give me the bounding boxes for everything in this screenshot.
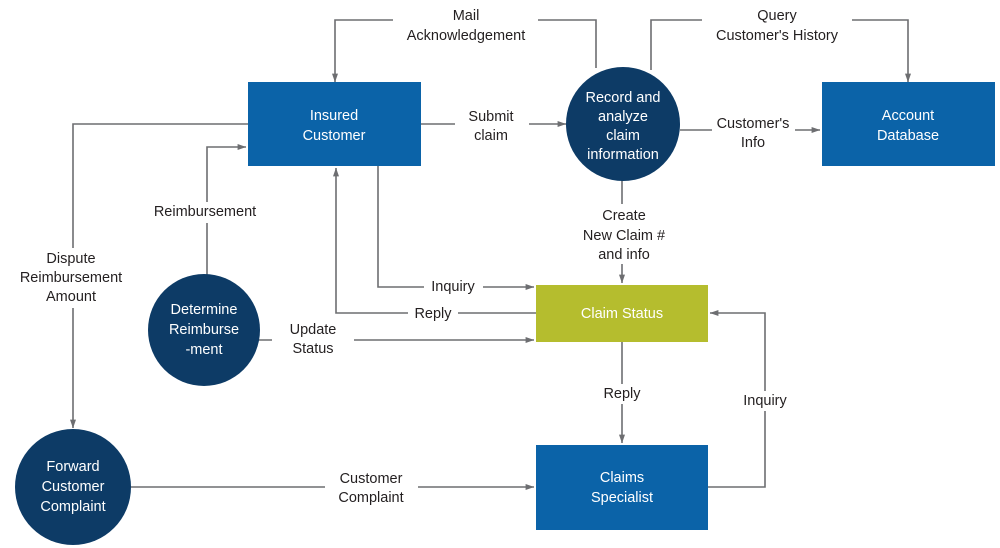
flow-label-query-customers-history: Query Customer's History <box>702 7 852 47</box>
flow-label-reply-status-to-specialist-line-1: Reply <box>603 386 641 402</box>
node-label-determine-reimbursement-line-3: -ment <box>185 342 222 358</box>
node-label-claim-status: Claim Status <box>581 306 663 322</box>
flow-label-customers-info-line-1: Customer's <box>717 116 790 132</box>
node-claims-specialist[interactable]: Claims Specialist <box>536 445 708 530</box>
node-determine-reimbursement[interactable]: Determine Reimburse -ment <box>148 274 260 386</box>
flow-label-submit-claim-line-2: claim <box>474 128 508 144</box>
flow-label-query-customers-history-line-2: Customer's History <box>716 28 839 44</box>
flow-label-inquiry-customer-to-status-line-1: Inquiry <box>431 279 475 295</box>
node-label-account-database-line-2: Database <box>877 128 939 144</box>
flow-label-update-status-line-1: Update <box>290 322 337 338</box>
node-label-record-analyze-line-2: analyze <box>598 109 648 125</box>
flow-label-dispute-reimbursement-amount-line-3: Amount <box>46 289 96 305</box>
flow-label-query-customers-history-line-1: Query <box>757 8 797 24</box>
flow-label-submit-claim: Submit claim <box>455 106 529 146</box>
node-record-analyze[interactable]: Record and analyze claim information <box>566 67 680 181</box>
flow-label-customers-info: Customer's Info <box>712 113 795 153</box>
flow-label-customers-info-line-2: Info <box>741 135 765 151</box>
node-label-insured-customer-line-2: Customer <box>303 128 366 144</box>
flow-label-mail-acknowledgement-line-2: Acknowledgement <box>407 28 526 44</box>
node-label-determine-reimbursement-line-1: Determine <box>171 302 238 318</box>
flow-label-dispute-reimbursement-amount-line-2: Reimbursement <box>20 270 122 286</box>
flow-label-inquiry-customer-to-status: Inquiry <box>424 277 483 297</box>
flow-label-inquiry-specialist-to-status: Inquiry <box>736 391 795 411</box>
flow-label-dispute-reimbursement-amount-line-1: Dispute <box>46 251 95 267</box>
flow-label-reply-status-to-customer-line-1: Reply <box>414 306 452 322</box>
node-label-insured-customer-line-1: Insured <box>310 108 358 124</box>
node-insured-customer[interactable]: Insured Customer <box>248 82 421 166</box>
flow-label-create-new-claim-line-3: and info <box>598 247 650 263</box>
node-label-forward-customer-complaint-line-3: Complaint <box>40 499 105 515</box>
flow-label-create-new-claim: Create New Claim # and info <box>578 204 670 264</box>
flow-label-mail-acknowledgement-line-1: Mail <box>453 8 480 24</box>
node-forward-customer-complaint[interactable]: Forward Customer Complaint <box>15 429 131 545</box>
flow-label-mail-acknowledgement: Mail Acknowledgement <box>393 7 538 47</box>
flow-label-customer-complaint: Customer Complaint <box>325 467 418 507</box>
flow-line-inquiry-customer-to-status <box>378 166 534 287</box>
node-label-forward-customer-complaint-line-1: Forward <box>46 459 99 475</box>
dataflow-diagram: Insured Customer Record and analyze clai… <box>0 0 1000 548</box>
flow-label-reimbursement: Reimbursement <box>140 202 270 223</box>
flow-label-update-status: Update Status <box>272 318 354 358</box>
flow-label-create-new-claim-line-1: Create <box>602 208 646 224</box>
flow-label-reply-status-to-specialist: Reply <box>597 384 647 404</box>
flow-label-reply-status-to-customer: Reply <box>408 304 458 324</box>
node-label-determine-reimbursement-line-2: Reimburse <box>169 322 239 338</box>
flow-label-customer-complaint-line-1: Customer <box>340 471 403 487</box>
flow-label-submit-claim-line-1: Submit <box>468 109 513 125</box>
flow-label-reimbursement-line-1: Reimbursement <box>154 204 256 220</box>
node-label-record-analyze-line-1: Record and <box>586 90 661 106</box>
node-claim-status[interactable]: Claim Status <box>536 285 708 342</box>
node-label-claims-specialist-line-2: Specialist <box>591 490 653 506</box>
diagram-canvas: Insured Customer Record and analyze clai… <box>0 0 1000 548</box>
node-label-record-analyze-line-4: information <box>587 147 659 163</box>
flow-label-create-new-claim-line-2: New Claim # <box>583 228 665 244</box>
node-account-database[interactable]: Account Database <box>822 82 995 166</box>
flow-label-customer-complaint-line-2: Complaint <box>338 490 403 506</box>
flow-label-update-status-line-2: Status <box>292 341 333 357</box>
flow-label-dispute-reimbursement-amount: Dispute Reimbursement Amount <box>4 248 137 308</box>
node-label-record-analyze-line-3: claim <box>606 128 640 144</box>
flow-label-inquiry-specialist-to-status-line-1: Inquiry <box>743 393 787 409</box>
node-label-account-database-line-1: Account <box>882 108 934 124</box>
node-label-forward-customer-complaint-line-2: Customer <box>42 479 105 495</box>
node-label-claims-specialist-line-1: Claims <box>600 470 644 486</box>
